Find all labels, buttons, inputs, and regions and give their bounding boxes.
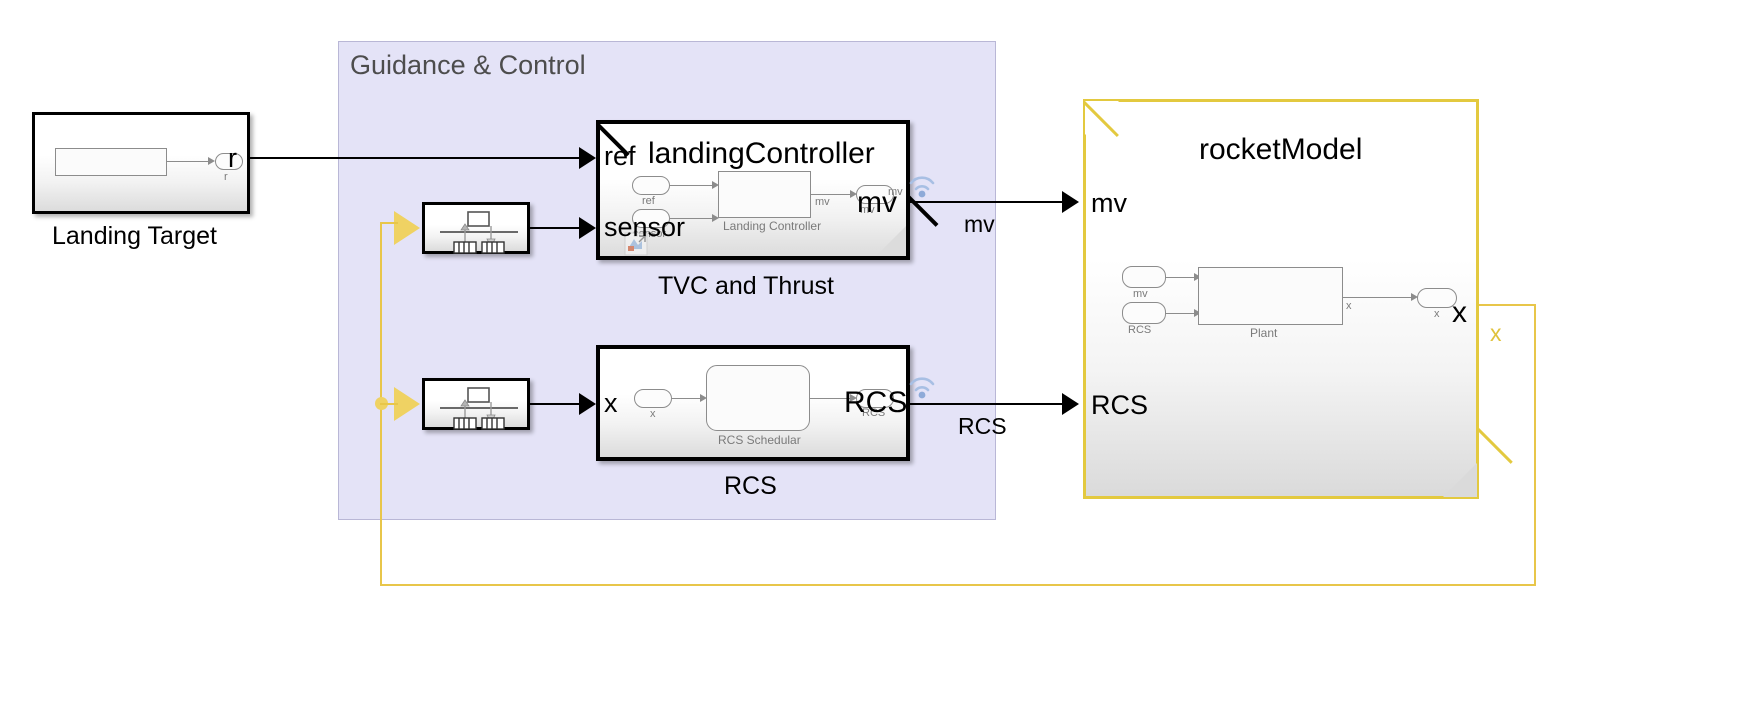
signal-broadcast-icon [907,373,941,399]
diagram-canvas: Guidance & Control r r Landing Target [0,0,1744,706]
signal-label-mv: mv [964,211,995,238]
model-corner-cut-icon [1085,101,1119,135]
port-label-rocket-rcs: RCS [1091,390,1148,421]
wire-r-to-ref [250,157,582,159]
wire-x-feedback-top [1479,304,1536,306]
title-landing-controller: landingController [648,137,875,171]
arrow-into-bus-top-icon [394,211,420,245]
wire-x-feedback-branch-bottom [380,403,398,405]
port-label-ref: ref [604,141,636,172]
preview-inport-mv-label: mv [1133,288,1148,300]
preview-source-block [55,148,167,176]
signal-label-x-feedback: x [1490,320,1502,347]
arrow-into-ref-icon [579,147,596,169]
preview-arrow-icon [208,157,215,165]
preview-inport-mv [1122,266,1166,288]
preview-signal-x-label: x [1346,300,1352,312]
preview-inport-rcs [1122,302,1166,324]
caption-landing-target: Landing Target [52,222,217,251]
caption-rcs: RCS [724,472,777,501]
network-bus-icon [425,381,533,433]
model-corner-cut-icon [876,226,906,256]
port-label-rcs-out: RCS [844,386,907,420]
preview-wire [167,161,211,162]
title-rocket-model: rocketModel [1199,133,1362,167]
preview-plant-block [1198,267,1343,325]
model-corner-cut-icon [1443,463,1477,497]
arrow-into-x-icon [579,393,596,415]
network-bus-icon [425,205,533,257]
port-label-mv-out: mv [857,186,897,220]
port-label-r: r [228,143,237,174]
preview-rcs-schedular-block [706,365,810,431]
subsystem-title: Guidance & Control [350,50,586,81]
wire-bus-bottom-to-x [530,403,582,405]
port-label-x-in: x [604,388,618,419]
signal-label-rcs: RCS [958,413,1007,440]
block-landing-target[interactable]: r [32,112,250,214]
preview-controller-block [718,171,811,218]
preview-inport-ref-label: ref [642,195,655,207]
preview-plant-label: Plant [1250,326,1277,340]
arrow-into-rocket-rcs-icon [1062,393,1079,415]
wire-bus-top-to-sensor [530,227,582,229]
arrow-into-sensor-icon [579,217,596,239]
arrow-into-rocket-mv-icon [1062,191,1079,213]
preview-inport-x [634,389,672,408]
preview-wire [1343,297,1416,298]
preview-signal-mv-label: mv [815,196,830,208]
wire-x-feedback-bottom [380,584,1536,586]
block-bus-bottom[interactable] [422,378,530,430]
preview-inport-rcs-label: RCS [1128,324,1151,336]
preview-outport-x-label: x [1434,308,1440,320]
preview-inport-ref [632,176,670,195]
wire-x-feedback-branch-top [380,222,398,224]
preview-rcs-schedular-label: RCS Schedular [718,433,801,447]
signal-broadcast-icon [907,172,941,198]
port-label-rocket-mv: mv [1091,188,1127,219]
block-bus-top[interactable] [422,202,530,254]
caption-tvc-and-thrust: TVC and Thrust [658,272,834,301]
wire-rcs-to-rocket [910,403,1070,405]
port-label-rocket-x-out: x [1452,296,1467,330]
preview-wire [670,185,717,186]
port-label-sensor: sensor [604,212,685,243]
preview-controller-label: Landing Controller [723,219,821,233]
wire-x-feedback-right [1534,304,1536,586]
preview-inport-x-label: x [650,408,656,420]
wire-mv-to-rocket [910,201,1070,203]
preview-outport-x [1417,288,1457,308]
